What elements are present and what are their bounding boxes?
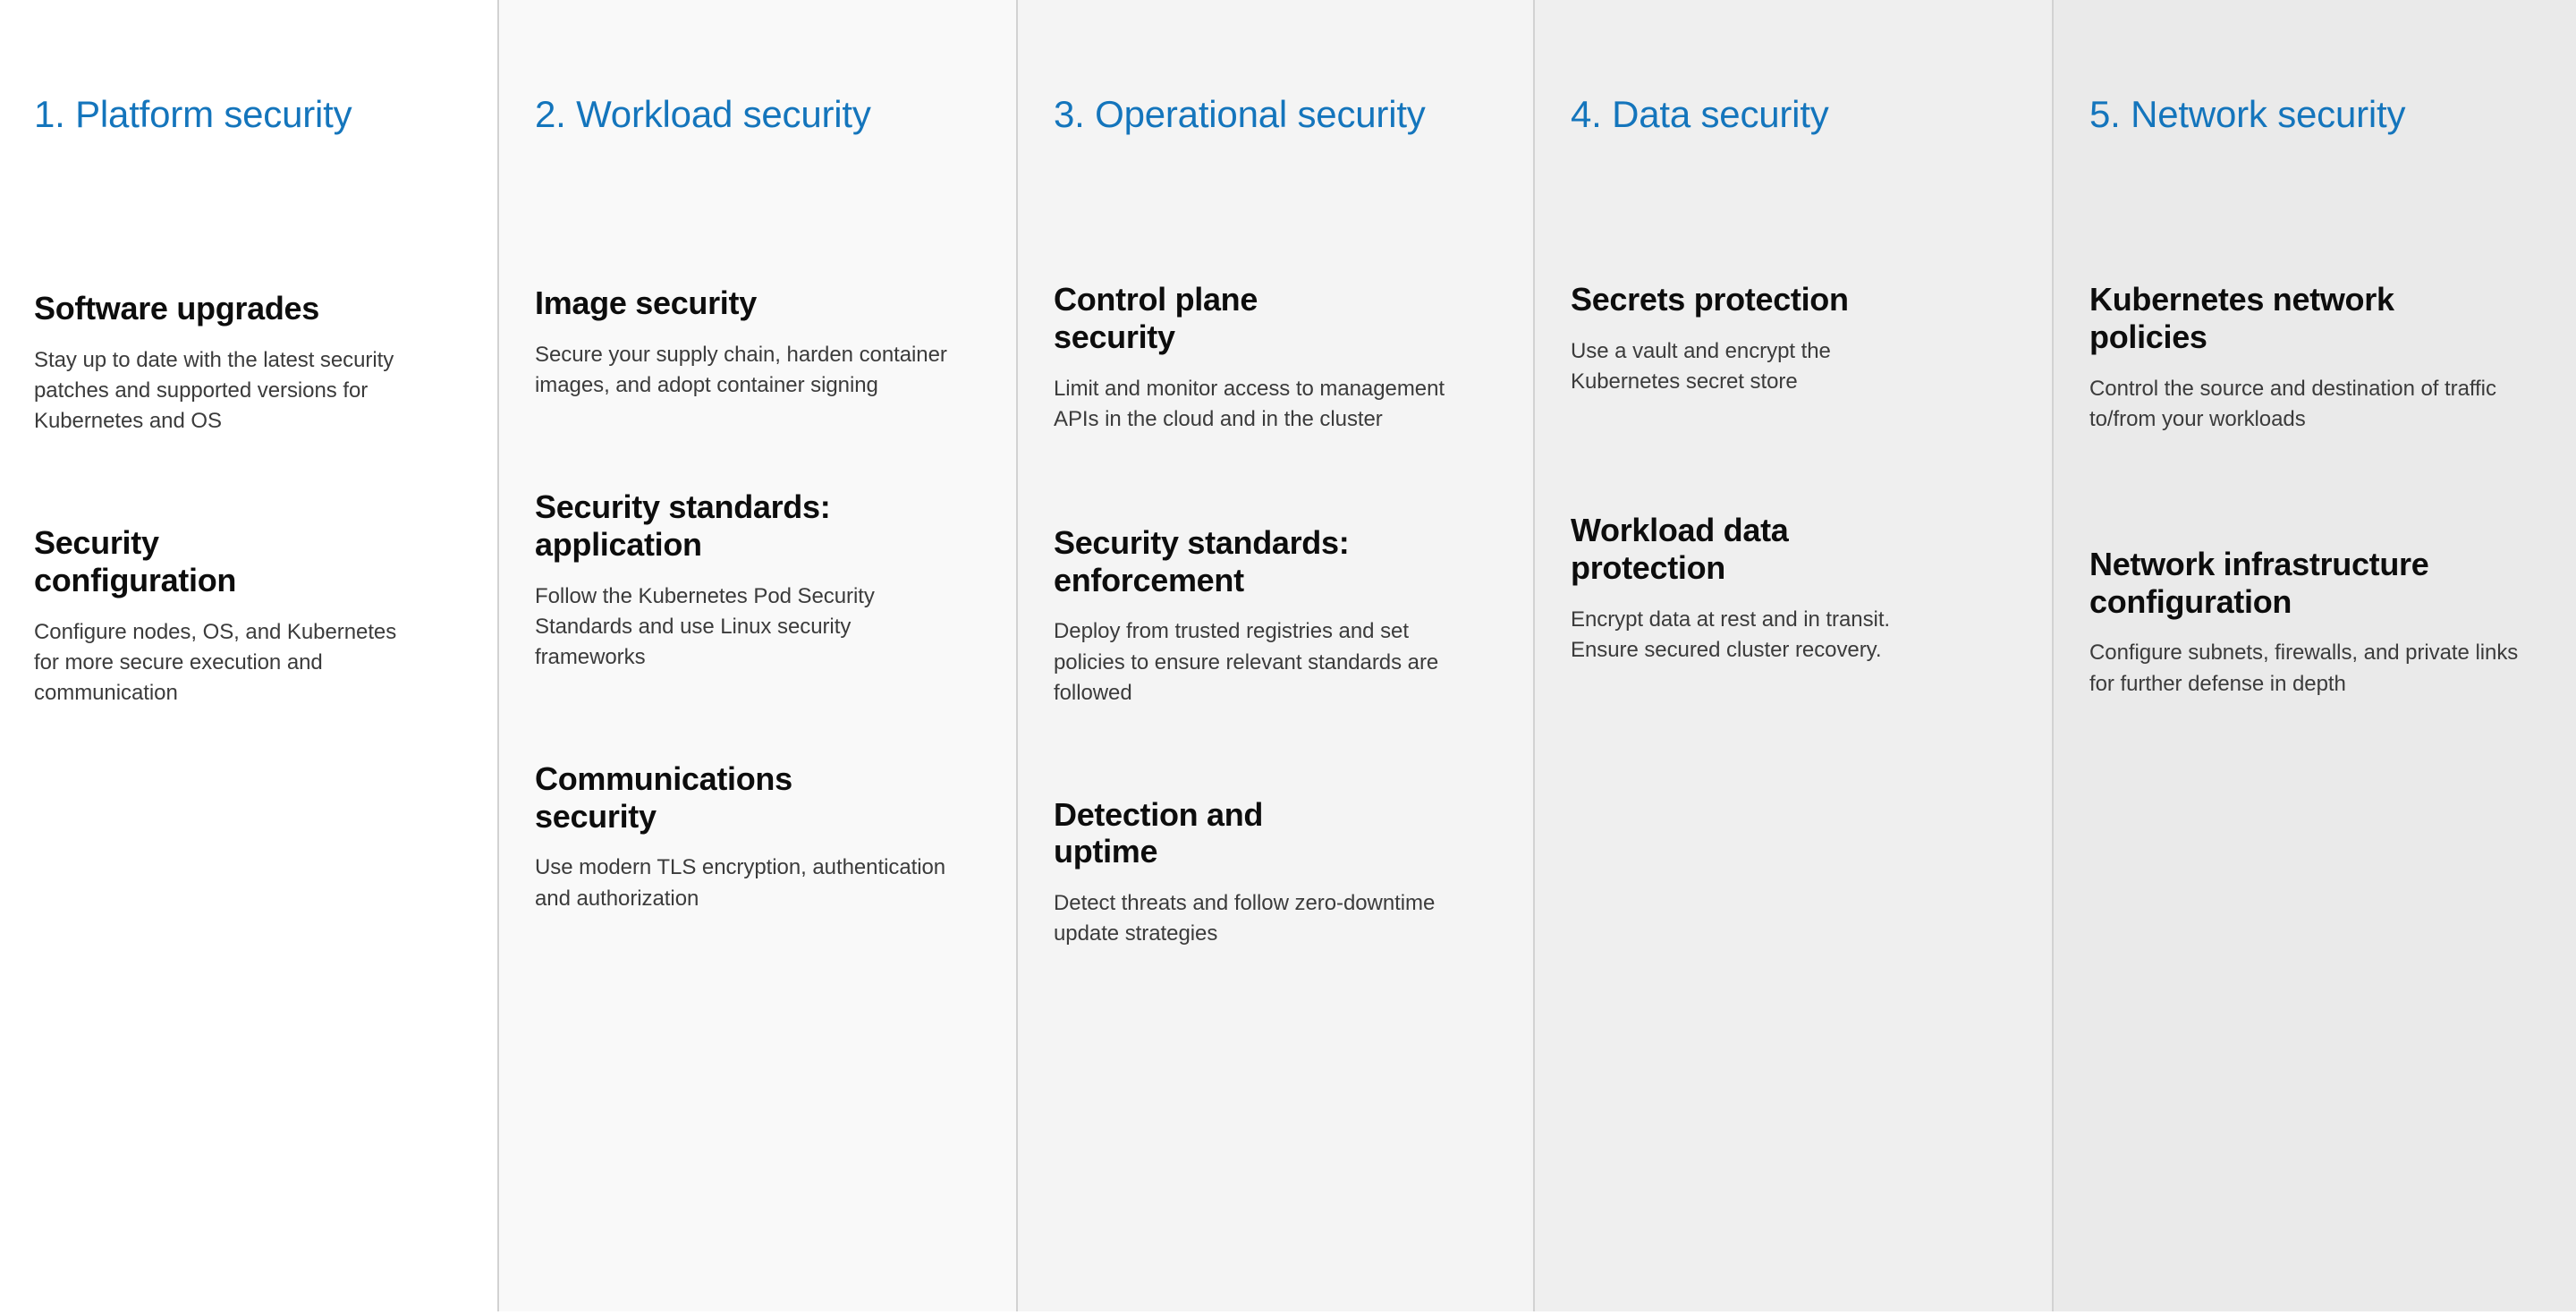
card-title: Control plane security — [1054, 281, 1349, 356]
card-description: Configure subnets, firewalls, and privat… — [2089, 638, 2519, 699]
card-kubernetes-network-policies: Kubernetes network policies Control the … — [2089, 281, 2549, 435]
card-description: Encrypt data at rest and in transit. Ens… — [1571, 605, 1928, 666]
card-security-standards-enforcement: Security standards: enforcement Deploy f… — [1054, 524, 1508, 708]
card-list-2: Image security Secure your supply chain,… — [535, 284, 991, 913]
card-network-infrastructure-configuration: Network infrastructure configuration Con… — [2089, 546, 2549, 700]
card-title: Security standards: application — [535, 488, 982, 564]
card-title: Network infrastructure configuration — [2089, 546, 2510, 621]
column-divider-4 — [2052, 0, 2054, 1311]
column-network-security: 5. Network security Kubernetes network p… — [2054, 0, 2576, 1311]
card-detection-and-uptime: Detection and uptime Detect threats and … — [1054, 796, 1508, 950]
card-title: Kubernetes network policies — [2089, 281, 2510, 356]
card-title: Security standards: enforcement — [1054, 524, 1429, 599]
card-control-plane-security: Control plane security Limit and monitor… — [1054, 281, 1508, 435]
card-workload-data-protection: Workload data protection Encrypt data at… — [1571, 512, 2027, 666]
card-description: Use a vault and encrypt the Kubernetes s… — [1571, 336, 1928, 397]
card-description: Configure nodes, OS, and Kubernetes for … — [34, 617, 419, 708]
column-title-1: 1. Platform security — [34, 93, 472, 136]
card-title: Image security — [535, 284, 803, 322]
column-title-3: 3. Operational security — [1054, 93, 1508, 136]
column-title-4: 4. Data security — [1571, 93, 2027, 136]
card-communications-security: Communications security Use modern TLS e… — [535, 760, 991, 914]
column-divider-1 — [497, 0, 499, 1311]
card-security-configuration: Security configuration Configure nodes, … — [34, 524, 472, 708]
column-operational-security: 3. Operational security Control plane se… — [1018, 0, 1535, 1311]
security-pillars-board: 1. Platform security Software upgrades S… — [0, 0, 2576, 1315]
card-security-standards-application: Security standards: application Follow t… — [535, 488, 991, 673]
column-platform-security: 1. Platform security Software upgrades S… — [0, 0, 499, 1315]
column-divider-3 — [1533, 0, 1535, 1311]
card-description: Limit and monitor access to management A… — [1054, 374, 1483, 435]
card-title: Software upgrades — [34, 290, 329, 327]
card-list-5: Kubernetes network policies Control the … — [2089, 281, 2549, 699]
column-title-2: 2. Workload security — [535, 93, 991, 136]
column-divider-2 — [1016, 0, 1018, 1311]
card-title: Security configuration — [34, 524, 329, 599]
column-title-5: 5. Network security — [2089, 93, 2549, 136]
card-list-4: Secrets protection Use a vault and encry… — [1571, 281, 2027, 666]
card-software-upgrades: Software upgrades Stay up to date with t… — [34, 290, 472, 437]
card-description: Control the source and destination of tr… — [2089, 374, 2519, 435]
card-description: Follow the Kubernetes Pod Security Stand… — [535, 581, 955, 673]
card-description: Stay up to date with the latest security… — [34, 345, 419, 437]
card-title: Secrets protection — [1571, 281, 1866, 318]
card-description: Secure your supply chain, harden contain… — [535, 340, 955, 401]
card-description: Use modern TLS encryption, authenticatio… — [535, 853, 955, 913]
card-image-security: Image security Secure your supply chain,… — [535, 284, 991, 401]
card-description: Detect threats and follow zero-downtime … — [1054, 888, 1483, 949]
card-title: Detection and uptime — [1054, 796, 1340, 871]
card-list-1: Software upgrades Stay up to date with t… — [34, 290, 472, 708]
column-workload-security: 2. Workload security Image security Secu… — [499, 0, 1018, 1311]
card-secrets-protection: Secrets protection Use a vault and encry… — [1571, 281, 2027, 397]
card-title: Communications security — [535, 760, 875, 836]
column-data-security: 4. Data security Secrets protection Use … — [1535, 0, 2054, 1311]
card-title: Workload data protection — [1571, 512, 1866, 587]
card-description: Deploy from trusted registries and set p… — [1054, 616, 1483, 708]
card-list-3: Control plane security Limit and monitor… — [1054, 281, 1508, 949]
